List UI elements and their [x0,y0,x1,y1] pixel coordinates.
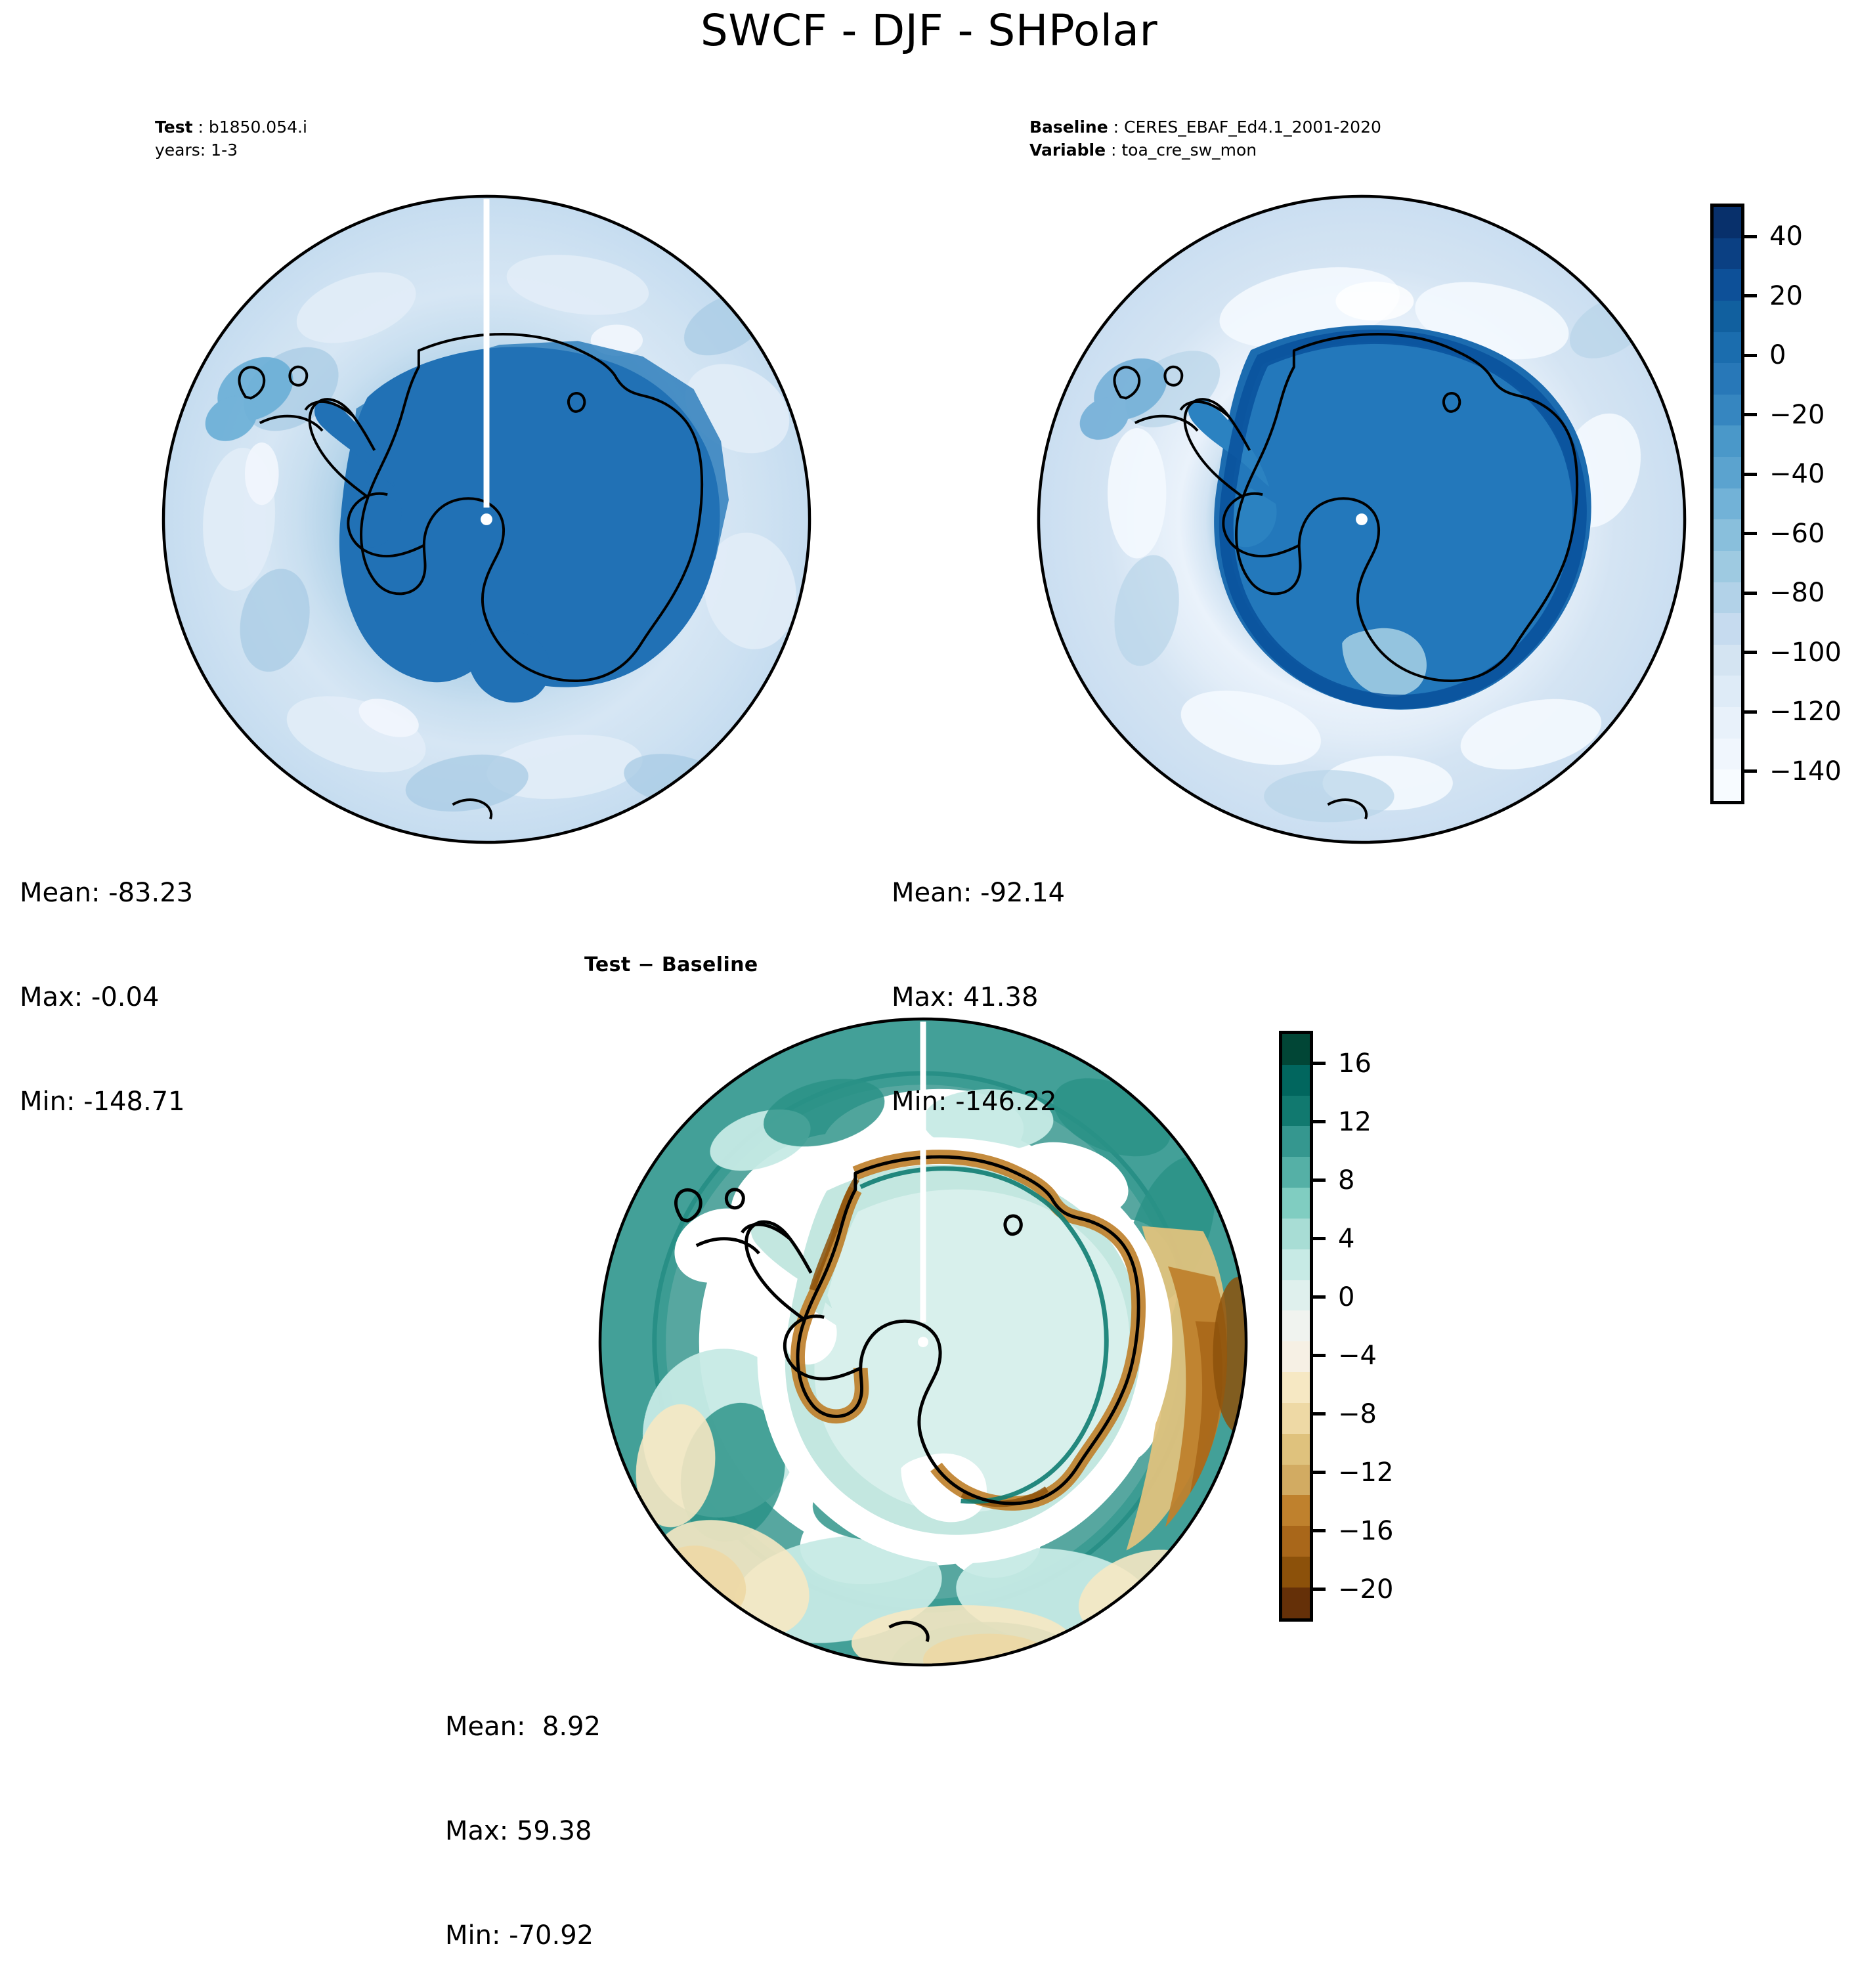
diff-colorbar-tick-label: −16 [1338,1518,1393,1544]
diff-colorbar-segment [1282,1096,1310,1127]
main-colorbar-segment [1714,238,1741,270]
diff-colorbar-tick-mark [1313,1471,1326,1474]
main-colorbar-tick-mark [1744,651,1757,654]
diff-colorbar-segment [1282,1403,1310,1434]
baseline-stat-max: Max: 41.38 [892,980,1065,1015]
main-colorbar-segment [1714,769,1741,801]
main-colorbar-tick-label: −140 [1769,758,1842,785]
main-colorbar-segment [1714,551,1741,582]
map-baseline-svg [1036,194,1687,845]
main-colorbar-tick-mark [1744,532,1757,535]
test-panel-header: Test : b1850.054.i years: 1-3 [155,116,307,162]
map-baseline-pole-marker [1356,513,1368,525]
diff-colorbar-tick-label: −20 [1338,1576,1393,1603]
diff-colorbar-segment [1282,1434,1310,1465]
main-colorbar-tick-mark [1744,473,1757,476]
test-header-key: Test [155,118,193,137]
main-colorbar-segment [1714,332,1741,364]
main-colorbar-segment [1714,739,1741,770]
diff-colorbar-tick-label: 0 [1338,1284,1354,1310]
diff-colorbar-tick-label: −12 [1338,1459,1393,1486]
main-colorbar-segment [1714,457,1741,488]
diff-colorbar-tick-label: 16 [1338,1050,1372,1077]
diff-colorbar-segment [1282,1034,1310,1065]
diff-colorbar-tick-label: 4 [1338,1226,1354,1252]
diff-colorbar-segment [1282,1280,1310,1311]
main-colorbar-tick-label: 0 [1769,342,1786,368]
test-stat-mean: Mean: -83.23 [20,876,193,911]
map-baseline-panel [1036,194,1687,845]
baseline-header-key: Baseline [1029,118,1108,137]
main-colorbar-tick-label: −40 [1769,461,1825,487]
map-test-svg [161,194,812,845]
diff-colorbar-segment [1282,1526,1310,1557]
diff-colorbar-tick-label: 12 [1338,1109,1372,1135]
test-stat-max: Max: -0.04 [20,980,193,1015]
main-colorbar-segment [1714,707,1741,739]
main-colorbar-tick-label: −60 [1769,521,1825,547]
baseline-panel-header: Baseline : CERES_EBAF_Ed4.1_2001-2020 Va… [1029,116,1381,162]
diff-colorbar-tick-label: −8 [1338,1401,1377,1427]
baseline-header-value: CERES_EBAF_Ed4.1_2001-2020 [1124,118,1381,137]
page-title: SWCF - DJF - SHPolar [0,5,1858,56]
main-colorbar-tick-mark [1744,710,1757,714]
baseline-header-sep: : [1108,118,1124,137]
main-colorbar-segment [1714,488,1741,520]
variable-header-key: Variable [1029,140,1106,160]
diff-colorbar-segment [1282,1126,1310,1157]
main-colorbar-gradient [1710,204,1744,804]
main-colorbar-tick-label: 40 [1769,223,1803,249]
main-colorbar-segment [1714,645,1741,676]
diff-colorbar-segment [1282,1065,1310,1096]
main-colorbar-ticks: 40200−20−40−60−80−100−120−140 [1744,204,1856,804]
diff-stat-max: Max: 59.38 [445,1814,601,1849]
baseline-stats-block: Mean: -92.14 Max: 41.38 Min: -146.22 [892,806,1065,1154]
main-colorbar-segment [1714,301,1741,332]
diff-panel-title: Test − Baseline [584,953,758,976]
diff-colorbar-tick-mark [1313,1588,1326,1591]
main-colorbar-tick-mark [1744,592,1757,595]
test-header-value: b1850.054.i [209,118,307,137]
diff-colorbar-tick-mark [1313,1178,1326,1182]
main-colorbar-segment [1714,519,1741,551]
diff-colorbar-segment [1282,1188,1310,1219]
diff-stat-min: Min: -70.92 [445,1918,601,1953]
diff-colorbar-segment [1282,1588,1310,1618]
diff-colorbar-segment [1282,1495,1310,1526]
diff-colorbar-segment [1282,1157,1310,1188]
main-colorbar-segment [1714,613,1741,645]
baseline-stat-mean: Mean: -92.14 [892,876,1065,911]
diff-colorbar-segment [1282,1372,1310,1403]
variable-header-sep: : [1106,140,1121,160]
test-stat-min: Min: -148.71 [20,1085,193,1119]
main-colorbar-tick-mark [1744,294,1757,297]
main-colorbar-tick-label: 20 [1769,283,1803,309]
test-header-sep: : [193,118,209,137]
diff-colorbar: 1612840−4−8−12−16−20 [1279,1031,1423,1622]
diff-colorbar-tick-mark [1313,1529,1326,1532]
test-stats-block: Mean: -83.23 Max: -0.04 Min: -148.71 [20,806,193,1154]
diff-colorbar-segment [1282,1219,1310,1249]
diff-colorbar-tick-mark [1313,1237,1326,1240]
main-colorbar-tick-mark [1744,354,1757,357]
main-colorbar-tick-mark [1744,769,1757,773]
main-colorbar: 40200−20−40−60−80−100−120−140 [1710,204,1855,804]
diff-colorbar-tick-mark [1313,1295,1326,1299]
diff-colorbar-tick-mark [1313,1062,1326,1065]
diff-colorbar-tick-label: −4 [1338,1343,1377,1369]
main-colorbar-tick-mark [1744,235,1757,238]
main-colorbar-segment [1714,425,1741,457]
main-colorbar-segment [1714,207,1741,238]
main-colorbar-segment [1714,582,1741,614]
main-colorbar-tick-label: −100 [1769,639,1842,666]
main-colorbar-segment [1714,395,1741,426]
main-colorbar-tick-label: −20 [1769,402,1825,428]
diff-colorbar-segment [1282,1557,1310,1588]
diff-colorbar-gradient [1279,1031,1313,1622]
main-colorbar-segment [1714,363,1741,395]
diff-colorbar-tick-mark [1313,1412,1326,1415]
main-colorbar-tick-label: −80 [1769,580,1825,606]
diff-colorbar-segment [1282,1310,1310,1341]
diff-colorbar-segment [1282,1341,1310,1372]
main-colorbar-segment [1714,676,1741,707]
baseline-stat-min: Min: -146.22 [892,1085,1065,1119]
main-colorbar-tick-label: −120 [1769,699,1842,725]
map-diff-pole-marker [918,1337,928,1347]
map-test-pole-marker [481,513,492,525]
main-colorbar-segment [1714,269,1741,301]
diff-colorbar-segment [1282,1249,1310,1280]
diff-stats-block: Mean: 8.92 Max: 59.38 Min: -70.92 [445,1640,601,1988]
main-colorbar-tick-mark [1744,413,1757,416]
diff-stat-mean: Mean: 8.92 [445,1710,601,1744]
diff-colorbar-ticks: 1612840−4−8−12−16−20 [1313,1031,1425,1622]
diff-colorbar-segment [1282,1465,1310,1496]
diff-colorbar-tick-label: 8 [1338,1167,1354,1194]
diff-colorbar-tick-mark [1313,1120,1326,1123]
variable-header-value: toa_cre_sw_mon [1121,140,1257,160]
test-header-years: years: 1-3 [155,139,307,162]
diff-colorbar-tick-mark [1313,1354,1326,1357]
map-test-panel [161,194,812,845]
